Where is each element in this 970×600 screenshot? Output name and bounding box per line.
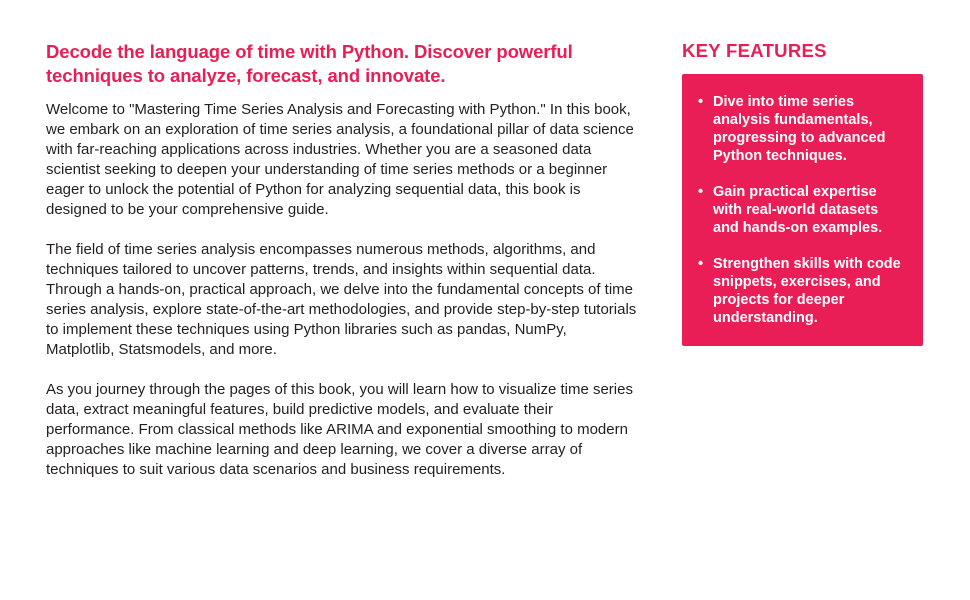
description-paragraph-2: The field of time series analysis encomp… bbox=[46, 240, 638, 360]
description-column: Decode the language of time with Python.… bbox=[46, 40, 638, 480]
description-paragraph-1: Welcome to "Mastering Time Series Analys… bbox=[46, 100, 638, 220]
book-headline: Decode the language of time with Python.… bbox=[46, 40, 638, 88]
key-feature-item-2: • Gain practical expertise with real-wor… bbox=[697, 183, 907, 237]
key-features-title: KEY FEATURES bbox=[682, 40, 923, 62]
key-feature-text: Dive into time series analysis fundament… bbox=[713, 94, 885, 164]
key-feature-text: Strengthen skills with code snippets, ex… bbox=[713, 256, 901, 326]
product-description-page: Decode the language of time with Python.… bbox=[0, 0, 970, 600]
description-paragraph-3: As you journey through the pages of this… bbox=[46, 380, 638, 480]
key-feature-item-3: • Strengthen skills with code snippets, … bbox=[697, 255, 907, 327]
key-features-list: • Dive into time series analysis fundame… bbox=[697, 93, 907, 327]
bullet-icon: • bbox=[698, 255, 703, 273]
bullet-icon: • bbox=[698, 183, 703, 201]
key-feature-item-1: • Dive into time series analysis fundame… bbox=[697, 93, 907, 165]
key-features-box: • Dive into time series analysis fundame… bbox=[682, 74, 923, 346]
key-features-column: KEY FEATURES • Dive into time series ana… bbox=[682, 40, 923, 346]
bullet-icon: • bbox=[698, 93, 703, 111]
key-feature-text: Gain practical expertise with real-world… bbox=[713, 184, 882, 236]
